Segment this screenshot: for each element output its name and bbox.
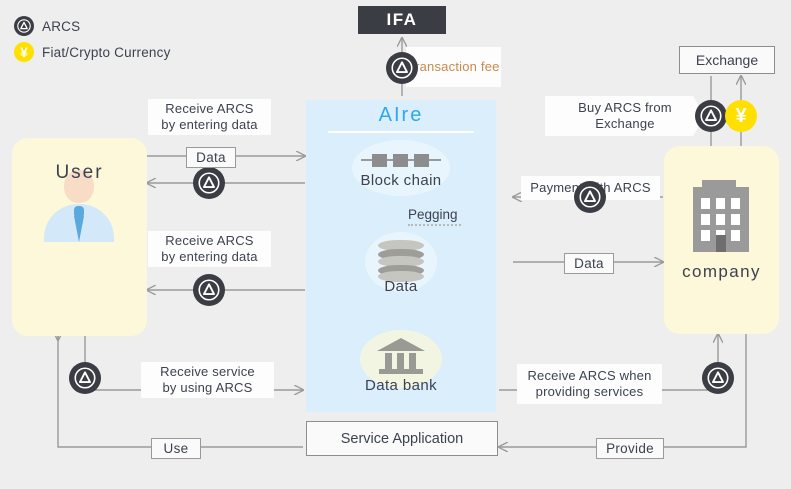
legend: ARCS ¥ Fiat/Crypto Currency: [14, 14, 254, 66]
ifa-label: IFA: [387, 10, 418, 30]
provide-tag: Provide: [596, 438, 664, 459]
data-label: Data: [306, 278, 496, 295]
yen-currency-icon-buy: ¥: [725, 100, 757, 132]
arcs-token-icon: [14, 16, 34, 36]
building-window: [701, 214, 710, 225]
chain-block: [393, 154, 408, 167]
bank-column: [385, 353, 392, 369]
buy-arcs-caption: Buy ARCS from Exchange: [545, 96, 705, 136]
bank-column: [397, 353, 404, 369]
exchange-label: Exchange: [696, 52, 758, 68]
arcs-token-icon-fee: [386, 52, 418, 84]
aire-title: AIre: [306, 104, 496, 127]
service-application-label: Service Application: [341, 431, 464, 447]
aire-title-underline: [328, 131, 474, 133]
receive-arcs-providing-line2: providing services: [536, 384, 644, 400]
office-building-icon: [693, 180, 749, 252]
receive-arcs-caption-2: Receive ARCS by entering data: [148, 231, 271, 267]
arcs-token-icon-payment: [574, 181, 606, 213]
legend-label-currency: Fiat/Crypto Currency: [42, 45, 171, 60]
receive-arcs-1-line2: by entering data: [161, 117, 257, 133]
blockchain-label: Block chain: [306, 172, 496, 189]
receive-arcs-caption-1: Receive ARCS by entering data: [148, 99, 271, 135]
receive-arcs-2-line2: by entering data: [161, 249, 257, 265]
bank-column: [409, 353, 416, 369]
data-tag-top: Data: [186, 147, 236, 168]
buy-arcs-line2: Exchange: [595, 116, 654, 132]
chain-block: [414, 154, 429, 167]
arcs-token-icon-providing: [702, 362, 734, 394]
building-window: [716, 198, 725, 209]
arcs-token-icon-user-2: [193, 274, 225, 306]
yen-glyph-buy: ¥: [735, 106, 746, 126]
arcs-token-icon-service: [69, 362, 101, 394]
building-window: [731, 198, 740, 209]
user-label: User: [12, 162, 147, 184]
arcs-token-icon-buy: [695, 100, 727, 132]
bank-building-icon: [377, 338, 425, 376]
chain-block: [372, 154, 387, 167]
building-window: [701, 198, 710, 209]
receive-arcs-providing-caption: Receive ARCS when providing services: [517, 364, 662, 404]
yen-currency-icon: ¥: [14, 42, 34, 62]
receive-service-line1: Receive service: [160, 364, 255, 380]
company-label: company: [664, 262, 779, 282]
receive-service-line2: by using ARCS: [162, 380, 252, 396]
arcs-token-icon-user-1: [193, 167, 225, 199]
exchange-node[interactable]: Exchange: [679, 46, 775, 74]
buy-arcs-line1: Buy ARCS from: [578, 100, 672, 116]
transaction-fee-line1: Transaction fee: [407, 59, 499, 75]
ifa-node[interactable]: IFA: [358, 6, 446, 34]
pegging-label: Pegging: [408, 207, 458, 222]
yen-glyph: ¥: [20, 45, 28, 59]
diagram-canvas: ARCS ¥ Fiat/Crypto Currency IFA Transact…: [0, 0, 791, 489]
bank-base: [379, 369, 423, 374]
legend-item-currency: ¥ Fiat/Crypto Currency: [14, 40, 254, 64]
use-tag: Use: [151, 438, 201, 459]
blockchain-blocks-icon: [361, 152, 441, 168]
receive-arcs-1-line1: Receive ARCS: [165, 101, 253, 117]
transaction-fee-caption: Transaction fee: [406, 47, 501, 87]
service-application-node[interactable]: Service Application: [306, 421, 498, 456]
legend-item-arcs: ARCS: [14, 14, 254, 38]
building-window: [731, 230, 740, 241]
receive-arcs-providing-line1: Receive ARCS when: [527, 368, 651, 384]
building-door: [716, 235, 726, 252]
building-window: [701, 230, 710, 241]
pegging-underline: [408, 224, 461, 226]
data-bank-label: Data bank: [306, 377, 496, 394]
data-tag-right: Data: [564, 253, 614, 274]
building-window: [716, 214, 725, 225]
person-tie: [74, 216, 84, 242]
legend-label-arcs: ARCS: [42, 19, 80, 34]
receive-service-caption: Receive service by using ARCS: [141, 362, 274, 398]
building-window: [731, 214, 740, 225]
database-stack-icon: [378, 240, 424, 282]
receive-arcs-2-line1: Receive ARCS: [165, 233, 253, 249]
bank-roof: [377, 338, 425, 351]
